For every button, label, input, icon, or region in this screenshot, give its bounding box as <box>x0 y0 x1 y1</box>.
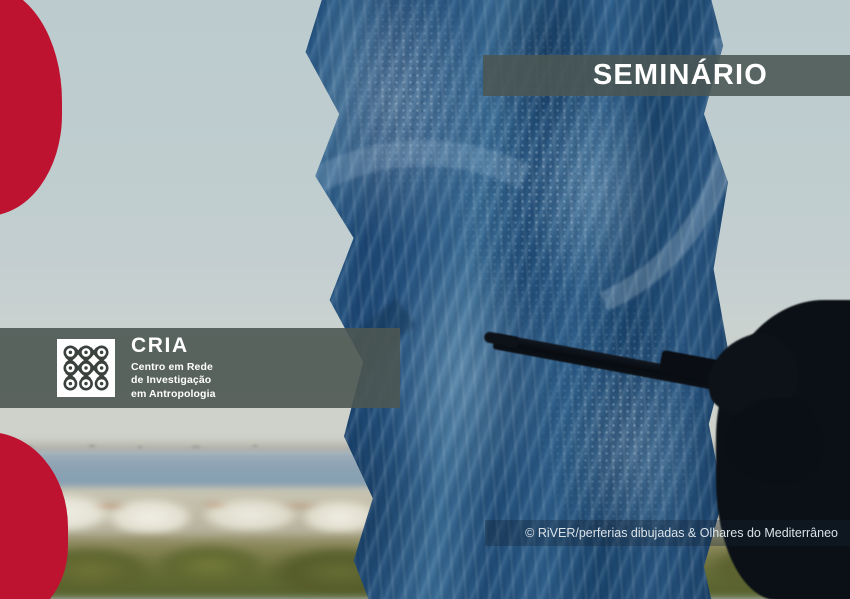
cria-logo-text: CRIA Centro em Rede de Investigação em A… <box>131 335 216 401</box>
cria-logo-banner: CRIA Centro em Rede de Investigação em A… <box>0 328 400 408</box>
cria-acronym: CRIA <box>131 335 216 356</box>
cria-full-name: Centro em Rede de Investigação em Antrop… <box>131 361 216 401</box>
poster-canvas: SEMINÁRIO <box>0 0 850 599</box>
cria-name-line-3: em Antropologia <box>131 388 216 401</box>
image-credit-text: © RiVER/perferias dibujadas & Olhares do… <box>525 526 850 540</box>
cria-name-line-2: de Investigação <box>131 374 216 387</box>
image-credit-bar: © RiVER/perferias dibujadas & Olhares do… <box>485 520 850 546</box>
seminar-title: SEMINÁRIO <box>593 59 850 92</box>
cria-knot-logo-icon <box>57 339 115 397</box>
cria-name-line-1: Centro em Rede <box>131 361 216 374</box>
seminar-banner: SEMINÁRIO <box>483 55 850 96</box>
